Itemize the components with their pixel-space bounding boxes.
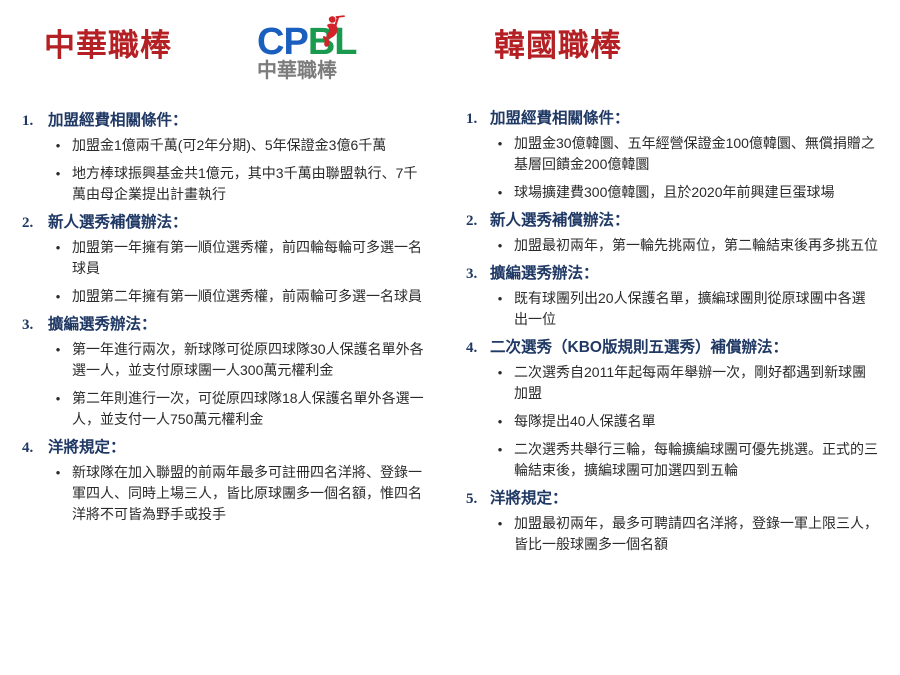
bullet-dot-icon: • <box>18 237 72 258</box>
section-title: 加盟經費相關條件： <box>48 110 432 132</box>
bullet-list: •加盟第一年擁有第一順位選秀權，前四輪每輪可多選一名球員•加盟第二年擁有第一順位… <box>18 237 432 307</box>
numbered-section: 3.擴編選秀辦法：•第一年進行兩次，新球隊可從原四球隊30人保護名單外各選一人，… <box>18 314 432 430</box>
cpbl-letter-p: P <box>283 21 307 63</box>
section-number: 1. <box>460 108 490 130</box>
bullet-item: •球場擴建費300億韓圜，且於2020年前興建巨蛋球場 <box>460 182 882 203</box>
bullet-item: •第二年則進行一次，可從原四球隊18人保護名單外各選一人，並支付一人750萬元權… <box>18 388 432 430</box>
section-number: 3. <box>460 263 490 285</box>
section-number: 3. <box>18 314 48 336</box>
section-heading: 4.二次選秀（KBO版規則五選秀）補償辦法： <box>460 337 882 359</box>
bullet-text: 既有球團列出20人保護名單，擴編球團則從原球團中各選出一位 <box>514 288 882 330</box>
section-title: 洋將規定： <box>48 437 432 459</box>
bullet-text: 新球隊在加入聯盟的前兩年最多可註冊四名洋將、登錄一軍四人、同時上場三人，皆比原球… <box>72 462 432 525</box>
left-column-header: 中華職棒 CPBL 中華職棒 <box>0 0 450 100</box>
bullet-text: 二次選秀共舉行三輪，每輪擴編球團可優先挑選。正式的三輪結束後，擴編球團可加選四到… <box>514 439 882 481</box>
bullet-text: 加盟金1億兩千萬(可2年分期)、5年保證金3億6千萬 <box>72 135 432 156</box>
section-heading: 2.新人選秀補償辦法： <box>18 212 432 234</box>
numbered-section: 2.新人選秀補償辦法：•加盟最初兩年，第一輪先挑兩位，第二輪結束後再多挑五位 <box>460 210 882 256</box>
cpbl-letter-c: C <box>257 21 283 63</box>
bullet-text: 地方棒球振興基金共1億元，其中3千萬由聯盟執行、7千萬由母企業提出計畫執行 <box>72 163 432 205</box>
bullet-text: 二次選秀自2011年起每兩年舉辦一次，剛好都遇到新球團加盟 <box>514 362 882 404</box>
bullet-text: 加盟金30億韓圜、五年經營保證金100億韓圜、無償捐贈之基層回饋金200億韓圜 <box>514 133 882 175</box>
bullet-list: •二次選秀自2011年起每兩年舉辦一次，剛好都遇到新球團加盟•每隊提出40人保護… <box>460 362 882 481</box>
bullet-list: •第一年進行兩次，新球隊可從原四球隊30人保護名單外各選一人，並支付原球團一人3… <box>18 339 432 430</box>
bullet-dot-icon: • <box>460 513 514 534</box>
bullet-text: 加盟最初兩年，第一輪先挑兩位，第二輪結束後再多挑五位 <box>514 235 882 256</box>
bullet-list: •既有球團列出20人保護名單，擴編球團則從原球團中各選出一位 <box>460 288 882 330</box>
bullet-text: 加盟最初兩年，最多可聘請四名洋將，登錄一軍上限三人，皆比一般球團多一個名額 <box>514 513 882 555</box>
right-content-column: 1.加盟經費相關條件：•加盟金30億韓圜、五年經營保證金100億韓圜、無償捐贈之… <box>450 100 900 675</box>
section-number: 2. <box>460 210 490 232</box>
numbered-section: 3.擴編選秀辦法：•既有球團列出20人保護名單，擴編球團則從原球團中各選出一位 <box>460 263 882 330</box>
section-title: 擴編選秀辦法： <box>490 263 882 285</box>
cpbl-logo-subtitle: 中華職棒 <box>257 59 337 83</box>
content-columns: 1.加盟經費相關條件：•加盟金1億兩千萬(可2年分期)、5年保證金3億6千萬•地… <box>0 100 900 675</box>
bullet-dot-icon: • <box>18 339 72 360</box>
bullet-text: 加盟第二年擁有第一順位選秀權，前兩輪可多選一名球員 <box>72 286 432 307</box>
bullet-item: •地方棒球振興基金共1億元，其中3千萬由聯盟執行、7千萬由母企業提出計畫執行 <box>18 163 432 205</box>
bullet-text: 球場擴建費300億韓圜，且於2020年前興建巨蛋球場 <box>514 182 882 203</box>
bullet-item: •第一年進行兩次，新球隊可從原四球隊30人保護名單外各選一人，並支付原球團一人3… <box>18 339 432 381</box>
section-title: 新人選秀補償辦法： <box>490 210 882 232</box>
section-number: 1. <box>18 110 48 132</box>
section-title: 新人選秀補償辦法： <box>48 212 432 234</box>
numbered-section: 5.洋將規定：•加盟最初兩年，最多可聘請四名洋將，登錄一軍上限三人，皆比一般球團… <box>460 488 882 555</box>
bullet-dot-icon: • <box>460 235 514 256</box>
bullet-dot-icon: • <box>460 411 514 432</box>
section-title: 洋將規定： <box>490 488 882 510</box>
bullet-item: •加盟金30億韓圜、五年經營保證金100億韓圜、無償捐贈之基層回饋金200億韓圜 <box>460 133 882 175</box>
section-title: 擴編選秀辦法： <box>48 314 432 336</box>
bullet-dot-icon: • <box>18 462 72 483</box>
bullet-item: •加盟金1億兩千萬(可2年分期)、5年保證金3億6千萬 <box>18 135 432 156</box>
bullet-text: 加盟第一年擁有第一順位選秀權，前四輪每輪可多選一名球員 <box>72 237 432 279</box>
right-league-title: 韓國職棒 <box>494 26 622 66</box>
bullet-item: •二次選秀自2011年起每兩年舉辦一次，剛好都遇到新球團加盟 <box>460 362 882 404</box>
slide-root: 中華職棒 CPBL 中華職棒 韓國職棒 <box>0 0 900 675</box>
section-title: 二次選秀（KBO版規則五選秀）補償辦法： <box>490 337 882 359</box>
section-heading: 2.新人選秀補償辦法： <box>460 210 882 232</box>
right-column-header: 韓國職棒 KOREA BASEBALL ORGANIZATION <box>450 0 900 100</box>
bullet-list: •加盟最初兩年，第一輪先挑兩位，第二輪結束後再多挑五位 <box>460 235 882 256</box>
cpbl-logo: CPBL 中華職棒 <box>255 12 390 92</box>
bullet-list: •加盟金30億韓圜、五年經營保證金100億韓圜、無償捐贈之基層回饋金200億韓圜… <box>460 133 882 203</box>
bullet-dot-icon: • <box>18 286 72 307</box>
numbered-section: 1.加盟經費相關條件：•加盟金1億兩千萬(可2年分期)、5年保證金3億6千萬•地… <box>18 110 432 205</box>
section-heading: 5.洋將規定： <box>460 488 882 510</box>
section-number: 4. <box>18 437 48 459</box>
bullet-item: •加盟第一年擁有第一順位選秀權，前四輪每輪可多選一名球員 <box>18 237 432 279</box>
bullet-dot-icon: • <box>460 182 514 203</box>
bullet-dot-icon: • <box>460 288 514 309</box>
bullet-item: •加盟最初兩年，第一輪先挑兩位，第二輪結束後再多挑五位 <box>460 235 882 256</box>
slide-header: 中華職棒 CPBL 中華職棒 韓國職棒 <box>0 0 900 100</box>
left-content-column: 1.加盟經費相關條件：•加盟金1億兩千萬(可2年分期)、5年保證金3億6千萬•地… <box>0 100 450 675</box>
bullet-item: •既有球團列出20人保護名單，擴編球團則從原球團中各選出一位 <box>460 288 882 330</box>
section-heading: 1.加盟經費相關條件： <box>18 110 432 132</box>
bullet-list: •加盟金1億兩千萬(可2年分期)、5年保證金3億6千萬•地方棒球振興基金共1億元… <box>18 135 432 205</box>
bullet-dot-icon: • <box>18 388 72 409</box>
section-number: 4. <box>460 337 490 359</box>
numbered-section: 4.二次選秀（KBO版規則五選秀）補償辦法：•二次選秀自2011年起每兩年舉辦一… <box>460 337 882 481</box>
bullet-list: •新球隊在加入聯盟的前兩年最多可註冊四名洋將、登錄一軍四人、同時上場三人，皆比原… <box>18 462 432 525</box>
bullet-text: 第二年則進行一次，可從原四球隊18人保護名單外各選一人，並支付一人750萬元權利… <box>72 388 432 430</box>
bullet-text: 第一年進行兩次，新球隊可從原四球隊30人保護名單外各選一人，並支付原球團一人30… <box>72 339 432 381</box>
bullet-list: •加盟最初兩年，最多可聘請四名洋將，登錄一軍上限三人，皆比一般球團多一個名額 <box>460 513 882 555</box>
bullet-dot-icon: • <box>460 439 514 460</box>
numbered-section: 1.加盟經費相關條件：•加盟金30億韓圜、五年經營保證金100億韓圜、無償捐贈之… <box>460 108 882 203</box>
section-heading: 4.洋將規定： <box>18 437 432 459</box>
bullet-dot-icon: • <box>18 135 72 156</box>
bullet-item: •加盟最初兩年，最多可聘請四名洋將，登錄一軍上限三人，皆比一般球團多一個名額 <box>460 513 882 555</box>
numbered-section: 2.新人選秀補償辦法：•加盟第一年擁有第一順位選秀權，前四輪每輪可多選一名球員•… <box>18 212 432 307</box>
bullet-item: •加盟第二年擁有第一順位選秀權，前兩輪可多選一名球員 <box>18 286 432 307</box>
bullet-item: •每隊提出40人保護名單 <box>460 411 882 432</box>
bullet-dot-icon: • <box>460 362 514 383</box>
section-title: 加盟經費相關條件： <box>490 108 882 130</box>
bullet-item: •新球隊在加入聯盟的前兩年最多可註冊四名洋將、登錄一軍四人、同時上場三人，皆比原… <box>18 462 432 525</box>
numbered-section: 4.洋將規定：•新球隊在加入聯盟的前兩年最多可註冊四名洋將、登錄一軍四人、同時上… <box>18 437 432 525</box>
bullet-dot-icon: • <box>18 163 72 184</box>
bullet-text: 每隊提出40人保護名單 <box>514 411 882 432</box>
section-heading: 1.加盟經費相關條件： <box>460 108 882 130</box>
left-league-title: 中華職棒 <box>44 26 172 66</box>
bullet-dot-icon: • <box>460 133 514 154</box>
section-number: 2. <box>18 212 48 234</box>
cpbl-batter-icon <box>317 14 347 50</box>
bullet-item: •二次選秀共舉行三輪，每輪擴編球團可優先挑選。正式的三輪結束後，擴編球團可加選四… <box>460 439 882 481</box>
section-heading: 3.擴編選秀辦法： <box>18 314 432 336</box>
section-number: 5. <box>460 488 490 510</box>
section-heading: 3.擴編選秀辦法： <box>460 263 882 285</box>
